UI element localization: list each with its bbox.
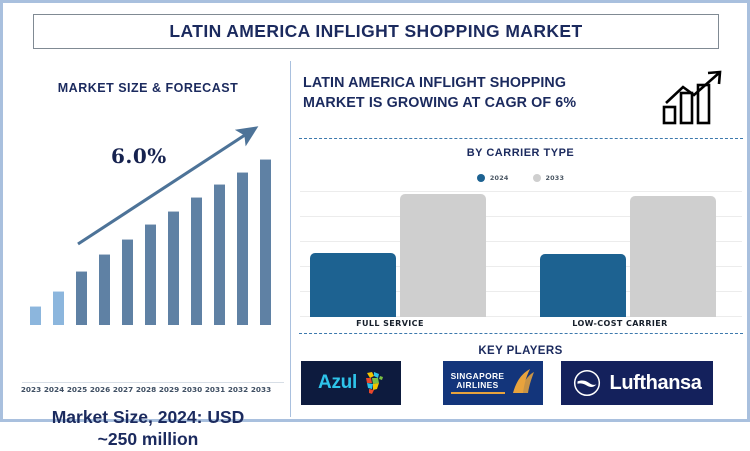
tick-2028: 2028 — [135, 385, 157, 394]
bar-low-cost-carrier-2033 — [630, 196, 716, 317]
headline-line2: MARKET IS GROWING AT CAGR OF 6% — [303, 93, 633, 113]
bar-chart-growth-icon — [661, 69, 731, 125]
logo-azul[interactable]: Azul — [301, 361, 401, 405]
bar-2031 — [214, 184, 225, 325]
market-size-footer-line2: ~250 million — [6, 428, 290, 450]
key-players-logos: Azul SINGAPORE — [291, 361, 750, 409]
category-label-full-service: FULL SERVICE — [310, 319, 470, 328]
carrier-type-chart — [300, 191, 742, 317]
forecast-bars — [24, 139, 282, 325]
gridline — [300, 191, 742, 192]
market-size-footer: Market Size, 2024: USD ~250 million — [6, 406, 290, 451]
logo-lufthansa-text: Lufthansa — [610, 372, 702, 395]
page-title-box: LATIN AMERICA INFLIGHT SHOPPING MARKET — [33, 14, 719, 49]
chart-legend: 2024 2033 — [291, 174, 750, 182]
market-size-heading: MARKET SIZE & FORECAST — [6, 81, 290, 95]
category-label-low-cost-carrier: LOW-COST CARRIER — [540, 319, 700, 328]
x-axis-tick-labels: 2023 2024 2025 2026 2027 2028 2029 2030 … — [20, 385, 282, 399]
logo-sia-line2: AIRLINES — [456, 381, 498, 390]
bar-2025 — [76, 271, 87, 325]
bar-full-service-2033 — [400, 194, 486, 317]
tick-2029: 2029 — [158, 385, 180, 394]
bar-2030 — [191, 197, 202, 325]
legend-item-2024: 2024 — [477, 174, 509, 182]
tick-2025: 2025 — [66, 385, 88, 394]
divider-top — [299, 138, 743, 139]
bar-2032 — [237, 172, 248, 325]
tick-2032: 2032 — [227, 385, 249, 394]
tick-2030: 2030 — [181, 385, 203, 394]
logo-singapore-airlines[interactable]: SINGAPORE AIRLINES — [443, 361, 543, 405]
x-axis-line — [22, 382, 284, 383]
bar-2033 — [260, 159, 271, 325]
bar-2028 — [145, 224, 156, 325]
tick-2026: 2026 — [89, 385, 111, 394]
market-size-footer-line1: Market Size, 2024: USD — [6, 406, 290, 428]
logo-sia-underline — [451, 392, 505, 394]
lufthansa-crane-icon — [573, 369, 601, 397]
bar-low-cost-carrier-2024 — [540, 254, 626, 317]
bar-2024 — [53, 291, 64, 325]
headline-line1: LATIN AMERICA INFLIGHT SHOPPING — [303, 73, 633, 93]
logo-azul-text: Azul — [318, 372, 357, 394]
market-size-panel: MARKET SIZE & FORECAST 6.0% — [6, 61, 290, 419]
infographic-root: LATIN AMERICA INFLIGHT SHOPPING MARKET M… — [0, 0, 750, 422]
bar-2023 — [30, 306, 41, 325]
tick-2033: 2033 — [250, 385, 272, 394]
bar-2027 — [122, 239, 133, 325]
logo-lufthansa[interactable]: Lufthansa — [561, 361, 713, 405]
tick-2024: 2024 — [43, 385, 65, 394]
key-players-heading: KEY PLAYERS — [291, 345, 750, 357]
page-title: LATIN AMERICA INFLIGHT SHOPPING MARKET — [169, 21, 582, 42]
bar-2029 — [168, 211, 179, 325]
brazil-map-icon — [362, 370, 384, 396]
bar-2026 — [99, 254, 110, 325]
legend-dot-2033 — [533, 174, 541, 182]
carrier-type-heading: BY CARRIER TYPE — [291, 147, 750, 159]
tick-2027: 2027 — [112, 385, 134, 394]
legend-label-2024: 2024 — [490, 174, 509, 182]
singapore-bird-icon — [510, 368, 536, 398]
right-panel: LATIN AMERICA INFLIGHT SHOPPING MARKET I… — [291, 61, 750, 419]
legend-label-2033: 2033 — [546, 174, 565, 182]
logo-singapore-airlines-text: SINGAPORE AIRLINES — [451, 372, 505, 393]
legend-item-2033: 2033 — [533, 174, 565, 182]
bar-full-service-2024 — [310, 253, 396, 317]
tick-2023: 2023 — [20, 385, 42, 394]
legend-dot-2024 — [477, 174, 485, 182]
headline: LATIN AMERICA INFLIGHT SHOPPING MARKET I… — [303, 73, 633, 114]
divider-bottom — [299, 333, 743, 334]
tick-2031: 2031 — [204, 385, 226, 394]
